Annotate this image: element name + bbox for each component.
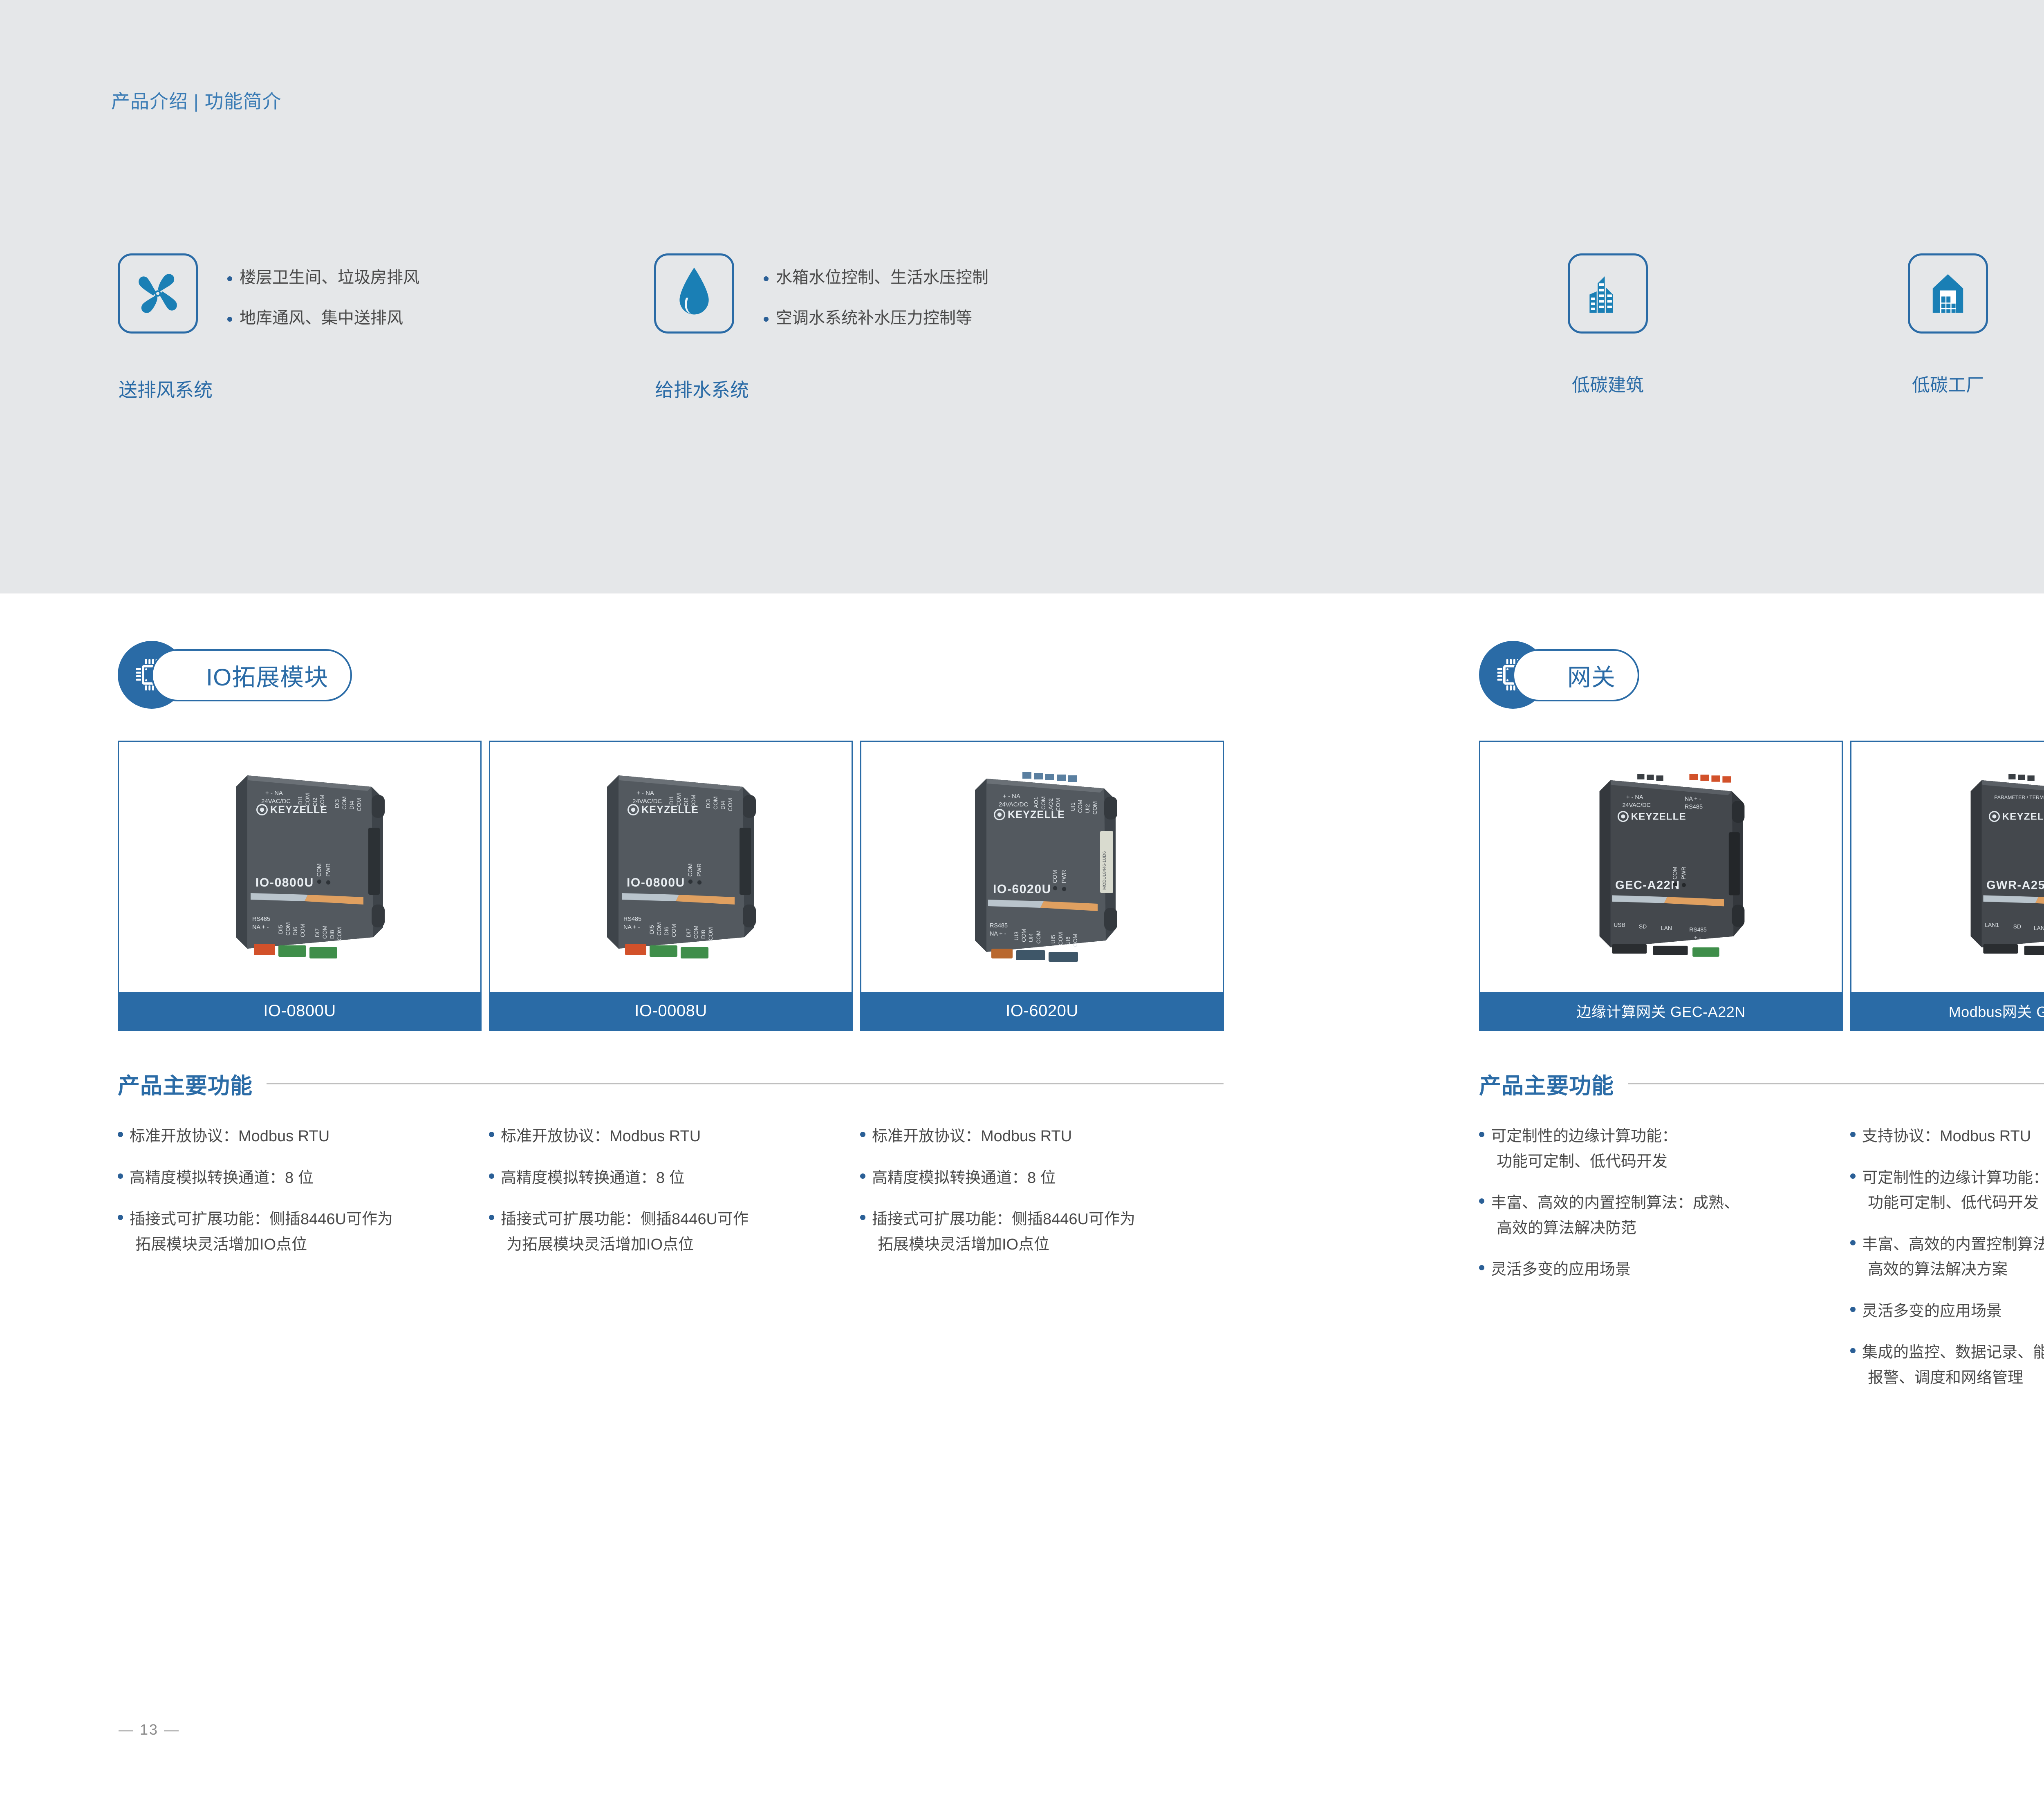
svg-text:COM: COM (707, 927, 714, 940)
list-item: 集成的监控、数据记录、能耗计量、 报警、调度和网络管理 (1850, 1340, 2044, 1390)
svg-text:COM: COM (1020, 929, 1027, 942)
svg-text:IO-0800U: IO-0800U (255, 876, 314, 889)
feature-text: 灵活多变的应用场景 (1862, 1299, 2002, 1324)
svg-text:UI2: UI2 (1084, 804, 1091, 813)
bullet-dot-icon (860, 1215, 865, 1220)
list-item: 空调水系统补水压力控制等 (764, 309, 988, 328)
svg-text:LAN: LAN (1661, 925, 1672, 931)
divider (267, 1083, 1224, 1084)
list-item: 标准开放协议：Modbus RTU (489, 1124, 853, 1149)
svg-text:COM: COM (727, 798, 733, 811)
svg-text:COM: COM (656, 922, 662, 936)
list-item: 高精度模拟转换通道：8 位 (118, 1166, 482, 1191)
svg-text:USB: USB (1614, 922, 1625, 928)
list-item: 高精度模拟转换通道：8 位 (860, 1166, 1224, 1191)
scenario-caption: 低碳建筑 (1568, 370, 1648, 396)
list-item: 支持协议：Modbus RTU (1850, 1124, 2044, 1149)
bullet-dot-icon (1479, 1198, 1484, 1204)
svg-text:MODUL8446-1UD6: MODUL8446-1UD6 (1102, 851, 1107, 890)
feature-text: 标准开放协议：Modbus RTU (130, 1124, 329, 1149)
svg-text:PWR: PWR (325, 863, 331, 877)
product-label: 边缘计算网关 GEC-A22N (1480, 992, 1842, 1030)
svg-text:UI3: UI3 (1013, 931, 1020, 940)
feature-column: 支持协议：Modbus RTU 可定制性的边缘计算功能： 功能可定制、低代码开发… (1850, 1124, 2044, 1407)
water-bullet-list: 水箱水位控制、生活水压控制 空调水系统补水压力控制等 (764, 268, 988, 328)
bullet-dot-icon (118, 1132, 123, 1137)
product-card[interactable]: PARAMETER / TERMINAL-IO DIAGRAM SILK KEY… (1850, 741, 2044, 1031)
page-number-left: — 13 — (119, 1721, 180, 1738)
feature-line: 插接式可扩展功能：侧插8446U可作 (501, 1211, 749, 1228)
svg-text:+ - NA: + - NA (265, 790, 283, 797)
bullet-text: 地库通风、集中送排风 (240, 309, 403, 328)
water-caption: 给排水系统 (655, 375, 749, 402)
svg-text:LAN2: LAN2 (2034, 925, 2044, 931)
io-device-illustration: MODUL8446-1UD6 + - NA 24VAC/DC AO1 COM A… (911, 752, 1173, 981)
feature-line: 功能可定制、低代码开发 (1862, 1191, 2044, 1216)
list-item: 标准开放协议：Modbus RTU (860, 1124, 1224, 1149)
svg-text:RS485: RS485 (1685, 804, 1703, 810)
feature-text: 高精度模拟转换通道：8 位 (130, 1166, 314, 1191)
bullet-dot-icon (1850, 1307, 1856, 1312)
feature-text: 高精度模拟转换通道：8 位 (872, 1166, 1056, 1191)
bullet-dot-icon (764, 317, 769, 322)
svg-text:COM: COM (1051, 870, 1058, 883)
svg-text:AO1: AO1 (1033, 797, 1039, 808)
svg-text:COM: COM (687, 863, 693, 877)
fan-icon-box (118, 253, 198, 334)
gateway-device-illustration: + - NA 24VAC/DC NA + - RS485 KEYZELLE GE… (1534, 757, 1788, 977)
svg-text:KEYZELLE: KEYZELLE (1008, 809, 1065, 820)
svg-text:AO2: AO2 (1047, 798, 1054, 810)
product-label: IO-0008U (490, 992, 852, 1030)
section-gateways: 网关 (1479, 638, 2044, 714)
list-item: 标准开放协议：Modbus RTU (118, 1124, 482, 1149)
product-image: MODUL8446-1UD6 + - NA 24VAC/DC AO1 COM A… (861, 742, 1223, 992)
product-image: + - NA 24VAC/DC DI1 COM DI2 COM DI3 COM (119, 742, 480, 992)
gateway-section-header: 网关 (1479, 638, 2044, 714)
svg-text:+ - NA: + - NA (1003, 793, 1020, 800)
scenario-caption: 低碳工厂 (1908, 370, 1988, 396)
product-label: IO-6020U (861, 992, 1223, 1030)
svg-text:DI8: DI8 (700, 930, 706, 939)
svg-text:UI5: UI5 (1050, 935, 1056, 944)
gateway-features-header: 产品主要功能 (1479, 1068, 2044, 1100)
section-io-modules: IO拓展模块 + (118, 638, 1224, 714)
product-card[interactable]: + - NA 24VAC/DC DI1 COM DI2 COM DI3 COM (118, 741, 482, 1031)
svg-text:COM: COM (299, 924, 306, 937)
bullet-dot-icon (489, 1215, 494, 1220)
bullet-dot-icon (1850, 1173, 1856, 1179)
gateway-section-title: 网关 (1567, 658, 1616, 692)
list-item: 水箱水位控制、生活水压控制 (764, 268, 988, 287)
fan-icon (132, 267, 184, 320)
svg-text:COM: COM (1072, 934, 1078, 947)
svg-text:COM: COM (1057, 932, 1064, 945)
product-image: PARAMETER / TERMINAL-IO DIAGRAM SILK KEY… (1851, 742, 2044, 992)
top-banner: 产品介绍 | 功能简介 产品介绍 | 功能简介 楼层卫生间 (0, 0, 2044, 593)
product-card[interactable]: + - NA 24VAC/DC NA + - RS485 KEYZELLE GE… (1479, 741, 1843, 1031)
list-item: 可定制性的边缘计算功能： 功能可定制、低代码开发 (1479, 1124, 1843, 1174)
gateway-product-cards: + - NA 24VAC/DC NA + - RS485 KEYZELLE GE… (1479, 741, 2044, 1031)
list-item: 丰富、高效的内置控制算法：成熟、 高效的算法解决方案 (1850, 1232, 2044, 1283)
feature-line: 可定制性的边缘计算功能： (1862, 1169, 2044, 1187)
bullet-dot-icon (118, 1173, 123, 1179)
bullet-dot-icon (764, 276, 769, 281)
svg-text:DI1: DI1 (297, 796, 303, 805)
svg-text:DI3: DI3 (705, 799, 711, 808)
svg-text:NA + -: NA + - (990, 931, 1006, 937)
feature-text: 标准开放协议：Modbus RTU (872, 1124, 1072, 1149)
list-item: 楼层卫生间、垃圾房排风 (227, 268, 419, 287)
bullet-text: 水箱水位控制、生活水压控制 (776, 268, 988, 287)
svg-text:GWR-A25N: GWR-A25N (1986, 879, 2044, 892)
water-drop-icon (672, 266, 717, 320)
svg-text:KEYZELLE: KEYZELLE (2002, 811, 2044, 822)
svg-text:UI6: UI6 (1065, 936, 1071, 945)
svg-text:COM: COM (356, 798, 362, 811)
feature-text: 插接式可扩展功能：侧插8446U可作为 拓展模块灵活增加IO点位 (872, 1207, 1135, 1257)
svg-text:24VAC/DC: 24VAC/DC (1623, 802, 1651, 808)
svg-text:+ - NA: + - NA (1626, 794, 1643, 801)
io-device-illustration: + - NA 24VAC/DC DI1 COM DI2 COM DI3 COM (169, 752, 430, 981)
svg-text:DI5: DI5 (277, 925, 284, 934)
list-item: 丰富、高效的内置控制算法：成熟、 高效的算法解决防范 (1479, 1191, 1843, 1241)
svg-text:COM: COM (1040, 796, 1047, 810)
svg-text:COM: COM (1035, 930, 1042, 944)
svg-text:SD: SD (2013, 923, 2021, 929)
bullet-dot-icon (860, 1132, 865, 1137)
gateway-feature-columns: 可定制性的边缘计算功能： 功能可定制、低代码开发 丰富、高效的内置控制算法：成熟… (1479, 1124, 2044, 1407)
feature-group-ventilation: 楼层卫生间、垃圾房排风 地库通风、集中送排风 送排风系统 (118, 253, 690, 425)
bullet-dot-icon (1850, 1240, 1856, 1245)
svg-text:COM: COM (336, 927, 343, 940)
svg-text:DI7: DI7 (314, 928, 320, 937)
feature-text: 可定制性的边缘计算功能： 功能可定制、低代码开发 (1491, 1124, 1677, 1174)
office-building-icon-box (1568, 253, 1648, 334)
divider (1628, 1083, 2044, 1084)
svg-text:DI1: DI1 (668, 796, 675, 805)
io-device-illustration: + - NA 24VAC/DC DI1 COM DI2 COM DI3 COM (540, 752, 802, 981)
product-label: Modbus网关 GWR-A25N (1851, 992, 2044, 1030)
brochure-spread: 产品介绍 | 功能简介 产品介绍 | 功能简介 楼层卫生间 (0, 0, 2044, 1798)
gateway-section-pill: 网关 (1513, 649, 1639, 701)
svg-text:IO-6020U: IO-6020U (993, 882, 1051, 896)
scenario-low-carbon-building: 低碳建筑 (1568, 253, 1648, 396)
svg-text:COM: COM (712, 796, 719, 810)
ventilation-bullet-list: 楼层卫生间、垃圾房排风 地库通风、集中送排风 (227, 268, 419, 328)
svg-text:DI7: DI7 (685, 928, 692, 937)
feature-text: 灵活多变的应用场景 (1491, 1257, 1631, 1283)
svg-text:KEYZELLE: KEYZELLE (1631, 811, 1686, 822)
feature-line: 报警、调度和网络管理 (1862, 1366, 2044, 1391)
list-item: 插接式可扩展功能：侧插8446U可作为 拓展模块灵活增加IO点位 (118, 1207, 482, 1257)
svg-text:COM: COM (321, 925, 328, 939)
feature-group-water: 水箱水位控制、生活水压控制 空调水系统补水压力控制等 给排水系统 (654, 253, 1226, 425)
svg-text:DI6: DI6 (663, 927, 670, 936)
office-building-icon (1582, 268, 1633, 319)
svg-text:COM: COM (693, 925, 699, 939)
io-section-header: IO拓展模块 (118, 638, 1224, 714)
svg-text:COM: COM (285, 922, 291, 936)
svg-text:COM: COM (316, 863, 322, 877)
list-item: 插接式可扩展功能：侧插8446U可作为 拓展模块灵活增加IO点位 (860, 1207, 1224, 1257)
scenario-low-carbon-factory: 低碳工厂 (1908, 253, 1988, 396)
svg-text:NA + -: NA + - (1685, 796, 1701, 802)
svg-text:KEYZELLE: KEYZELLE (641, 804, 699, 815)
svg-text:DI4: DI4 (348, 801, 355, 810)
bullet-dot-icon (489, 1132, 494, 1137)
factory-icon (1923, 268, 1973, 319)
io-section-title: IO拓展模块 (206, 658, 328, 692)
bullet-dot-icon (1479, 1265, 1484, 1270)
svg-text:IO-0800U: IO-0800U (627, 876, 685, 889)
feature-line: 为拓展模块灵活增加IO点位 (501, 1232, 749, 1258)
svg-text:LAN1: LAN1 (1985, 922, 1999, 928)
svg-text:UI4: UI4 (1028, 933, 1034, 942)
svg-text:DI6: DI6 (292, 927, 298, 936)
factory-icon-box (1908, 253, 1988, 334)
feature-text: 插接式可扩展功能：侧插8446U可作为 拓展模块灵活增加IO点位 (130, 1207, 393, 1257)
feature-line: 插接式可扩展功能：侧插8446U可作为 (872, 1211, 1135, 1228)
feature-text: 插接式可扩展功能：侧插8446U可作 为拓展模块灵活增加IO点位 (501, 1207, 749, 1257)
page-header-left: 产品介绍 | 功能简介 (111, 87, 282, 114)
product-card[interactable]: MODUL8446-1UD6 + - NA 24VAC/DC AO1 COM A… (860, 741, 1224, 1031)
feature-line: 插接式可扩展功能：侧插8446U可作为 (130, 1211, 393, 1228)
product-card[interactable]: + - NA 24VAC/DC DI1 COM DI2 COM DI3 COM (489, 741, 853, 1031)
io-product-cards: + - NA 24VAC/DC DI1 COM DI2 COM DI3 COM (118, 741, 1224, 1031)
svg-text:NA + -: NA + - (623, 924, 640, 931)
product-image: + - NA 24VAC/DC DI1 COM DI2 COM DI3 COM (490, 742, 852, 992)
svg-text:COM: COM (1672, 867, 1678, 880)
svg-text:PWR: PWR (1060, 870, 1067, 883)
feature-text: 可定制性的边缘计算功能： 功能可定制、低代码开发 (1862, 1166, 2044, 1216)
bullet-dot-icon (227, 276, 232, 281)
feature-text: 丰富、高效的内置控制算法：成熟、 高效的算法解决防范 (1491, 1191, 1739, 1241)
svg-text:RS485: RS485 (1689, 926, 1707, 933)
product-label: IO-0800U (119, 992, 480, 1030)
svg-text:COM: COM (1091, 801, 1098, 815)
feature-text: 集成的监控、数据记录、能耗计量、 报警、调度和网络管理 (1862, 1340, 2044, 1390)
feature-text: 支持协议：Modbus RTU (1862, 1124, 2031, 1149)
svg-text:PWR: PWR (696, 863, 702, 877)
svg-text:24VAC/DC: 24VAC/DC (999, 801, 1028, 808)
bullet-dot-icon (118, 1215, 123, 1220)
list-item: 高精度模拟转换通道：8 位 (489, 1166, 853, 1191)
list-item: 地库通风、集中送排风 (227, 309, 419, 328)
gateway-features-title: 产品主要功能 (1479, 1068, 1614, 1100)
bullet-dot-icon (1850, 1132, 1856, 1137)
feature-line: 高效的算法解决方案 (1862, 1257, 2044, 1283)
svg-text:PARAMETER / TERMINAL-IO DIAGRA: PARAMETER / TERMINAL-IO DIAGRAM SILK (1994, 795, 2044, 800)
feature-line: 丰富、高效的内置控制算法：成熟、 (1862, 1236, 2044, 1253)
feature-text: 高精度模拟转换通道：8 位 (501, 1166, 685, 1191)
feature-text: 标准开放协议：Modbus RTU (501, 1124, 701, 1149)
feature-column: 标准开放协议：Modbus RTU 高精度模拟转换通道：8 位 插接式可扩展功能… (118, 1124, 482, 1274)
svg-text:+ - NA: + - NA (637, 790, 654, 797)
svg-text:RS485: RS485 (623, 916, 641, 923)
list-item: 插接式可扩展功能：侧插8446U可作 为拓展模块灵活增加IO点位 (489, 1207, 853, 1257)
bullet-dot-icon (860, 1173, 865, 1179)
svg-text:UI1: UI1 (1069, 802, 1076, 811)
io-feature-columns: 标准开放协议：Modbus RTU 高精度模拟转换通道：8 位 插接式可扩展功能… (118, 1124, 1224, 1274)
feature-column: 标准开放协议：Modbus RTU 高精度模拟转换通道：8 位 插接式可扩展功能… (489, 1124, 853, 1274)
svg-text:NA + -: NA + - (252, 924, 269, 931)
product-image: + - NA 24VAC/DC NA + - RS485 KEYZELLE GE… (1480, 742, 1842, 992)
bullet-dot-icon (227, 317, 232, 322)
svg-text:COM: COM (341, 796, 347, 810)
list-item: 灵活多变的应用场景 (1850, 1299, 2044, 1324)
svg-text:RS485: RS485 (990, 923, 1008, 929)
gateway-device-illustration: PARAMETER / TERMINAL-IO DIAGRAM SILK KEY… (1905, 757, 2044, 977)
io-features-title: 产品主要功能 (118, 1068, 253, 1100)
feature-line: 集成的监控、数据记录、能耗计量、 (1862, 1344, 2044, 1361)
feature-line: 拓展模块灵活增加IO点位 (130, 1232, 393, 1258)
io-features-header: 产品主要功能 (118, 1068, 1224, 1100)
feature-column: 可定制性的边缘计算功能： 功能可定制、低代码开发 丰富、高效的内置控制算法：成熟… (1479, 1124, 1843, 1407)
feature-line: 丰富、高效的内置控制算法：成熟、 (1491, 1194, 1739, 1211)
feature-text: 丰富、高效的内置控制算法：成熟、 高效的算法解决方案 (1862, 1232, 2044, 1283)
svg-text:COM: COM (1077, 799, 1083, 813)
feature-line: 功能可定制、低代码开发 (1491, 1149, 1677, 1175)
svg-text:COM: COM (670, 924, 677, 937)
bullet-dot-icon (1479, 1132, 1484, 1137)
water-drop-icon-box (654, 253, 734, 334)
feature-line: 可定制性的边缘计算功能： (1491, 1128, 1677, 1145)
svg-text:DI4: DI4 (719, 801, 726, 810)
svg-text:DI3: DI3 (334, 799, 340, 808)
svg-text:+ -: + - (1694, 934, 1701, 940)
bullet-text: 空调水系统补水压力控制等 (776, 309, 972, 328)
svg-text:RS485: RS485 (252, 916, 270, 923)
io-section-pill: IO拓展模块 (151, 649, 352, 701)
ventilation-caption: 送排风系统 (119, 375, 213, 402)
svg-text:GEC-A22N: GEC-A22N (1615, 879, 1680, 892)
bullet-dot-icon (1850, 1348, 1856, 1353)
svg-text:KEYZELLE: KEYZELLE (270, 804, 327, 815)
bullet-text: 楼层卫生间、垃圾房排风 (240, 268, 419, 287)
list-item: 可定制性的边缘计算功能： 功能可定制、低代码开发 (1850, 1166, 2044, 1216)
svg-text:DI8: DI8 (329, 930, 335, 939)
feature-column: 标准开放协议：Modbus RTU 高精度模拟转换通道：8 位 插接式可扩展功能… (860, 1124, 1224, 1274)
bullet-dot-icon (489, 1173, 494, 1179)
feature-line: 拓展模块灵活增加IO点位 (872, 1232, 1135, 1258)
svg-text:PWR: PWR (1681, 867, 1687, 880)
svg-text:SD: SD (1639, 923, 1647, 929)
feature-line: 高效的算法解决防范 (1491, 1216, 1739, 1241)
list-item: 灵活多变的应用场景 (1479, 1257, 1843, 1283)
svg-text:DI5: DI5 (648, 925, 655, 934)
